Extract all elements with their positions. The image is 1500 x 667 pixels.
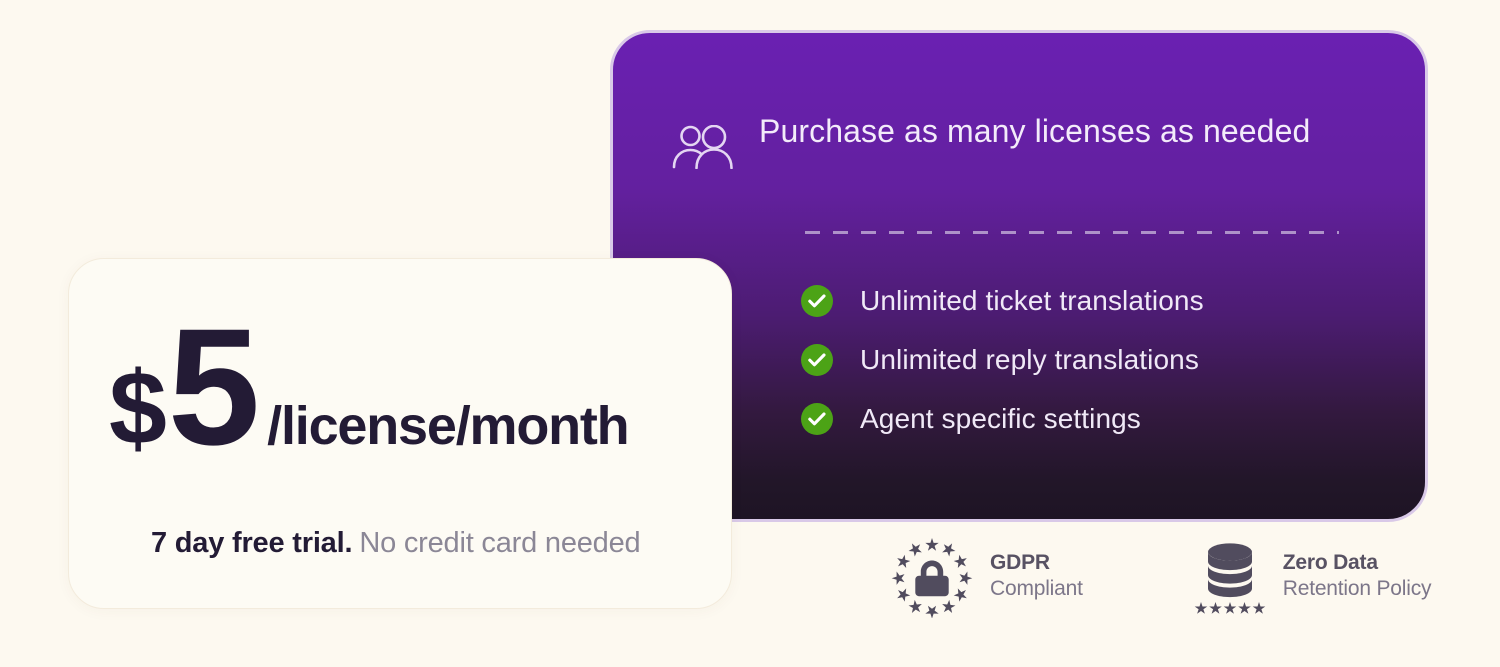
- badge-subtitle: Compliant: [990, 576, 1083, 602]
- lock-stars-icon: [890, 534, 974, 618]
- price-display: $ 5 /license/month: [109, 305, 628, 471]
- trust-badges: GDPR Compliant: [890, 534, 1431, 618]
- list-item: Unlimited ticket translations: [801, 271, 1401, 330]
- currency-symbol: $: [109, 357, 166, 461]
- plan-card: Purchase as many licenses as needed Unli…: [610, 30, 1428, 522]
- check-circle-icon: [801, 285, 833, 317]
- badge-gdpr-text: GDPR Compliant: [990, 550, 1083, 601]
- two-people-icon: [671, 125, 735, 169]
- list-item: Agent specific settings: [801, 389, 1401, 448]
- badge-subtitle: Retention Policy: [1283, 576, 1432, 602]
- dashed-divider: [805, 231, 1339, 234]
- plan-card-header: Purchase as many licenses as needed: [759, 111, 1389, 151]
- list-item: Unlimited reply translations: [801, 330, 1401, 389]
- badge-zero-data-text: Zero Data Retention Policy: [1283, 550, 1432, 601]
- feature-list: Unlimited ticket translations Unlimited …: [801, 271, 1401, 448]
- trial-subnote: No credit card needed: [359, 527, 640, 559]
- check-circle-icon: [801, 344, 833, 376]
- trial-highlight: 7 day free trial.: [151, 527, 352, 559]
- badge-gdpr: GDPR Compliant: [890, 534, 1083, 618]
- database-stars-icon: [1193, 534, 1267, 618]
- check-circle-icon: [801, 403, 833, 435]
- price-unit: /license/month: [267, 399, 628, 453]
- feature-label: Unlimited reply translations: [860, 344, 1199, 376]
- trial-note: 7 day free trial.No credit card needed: [151, 527, 640, 560]
- pricing-banner: Purchase as many licenses as needed Unli…: [0, 0, 1500, 667]
- price-amount: 5: [168, 305, 255, 471]
- badge-zero-data: Zero Data Retention Policy: [1193, 534, 1432, 618]
- plan-card-title: Purchase as many licenses as needed: [759, 111, 1389, 151]
- price-card: $ 5 /license/month 7 day free trial.No c…: [68, 258, 732, 609]
- feature-label: Unlimited ticket translations: [860, 285, 1204, 317]
- badge-title: Zero Data: [1283, 550, 1432, 576]
- feature-label: Agent specific settings: [860, 403, 1141, 435]
- badge-title: GDPR: [990, 550, 1083, 576]
